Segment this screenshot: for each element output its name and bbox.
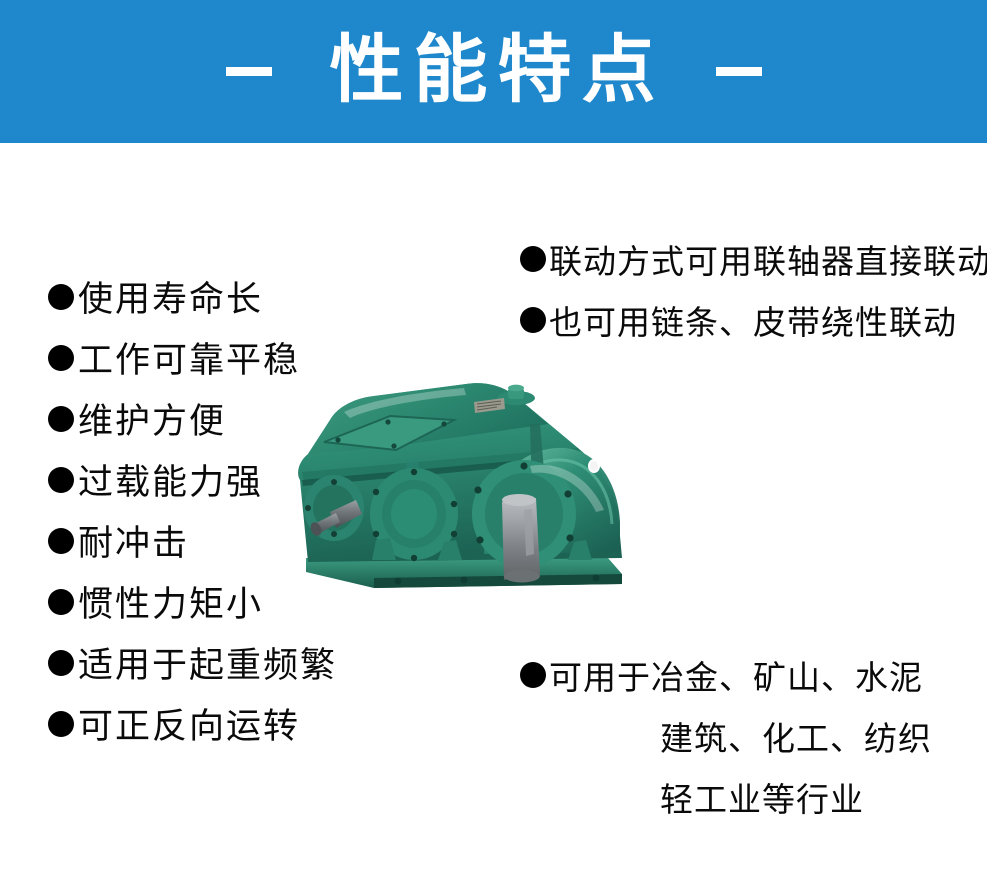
feature-label: 过载能力强	[78, 454, 263, 505]
banner-dash-left-icon	[226, 67, 272, 76]
bullet-icon	[48, 528, 74, 554]
feature-label: 维护方便	[78, 393, 226, 444]
list-item: 联动方式可用联轴器直接联动	[520, 228, 987, 289]
bullet-icon	[48, 345, 74, 371]
bullet-icon	[48, 650, 74, 676]
bullet-icon	[48, 711, 74, 737]
feature-label: 联动方式可用联轴器直接联动	[549, 235, 987, 283]
application-line: 建筑、化工、纺织	[520, 705, 932, 766]
bullet-icon	[48, 406, 74, 432]
page-root: 性能特点 使用寿命长 工作可靠平稳 维护方便 过载能力强 耐冲击 惯性力矩小	[0, 0, 987, 869]
feature-label: 工作可靠平稳	[78, 332, 300, 383]
list-item: 可正反向运转	[48, 693, 337, 754]
application-label: 建筑、化工、纺织	[660, 712, 932, 760]
feature-label: 惯性力矩小	[78, 576, 263, 627]
application-label: 可用于冶金、矿山、水泥	[549, 651, 923, 699]
bullet-icon	[48, 284, 74, 310]
input-shaft-assembly	[304, 475, 364, 541]
feature-label: 耐冲击	[78, 515, 189, 566]
reducer-base-plate	[306, 558, 622, 588]
application-label: 轻工业等行业	[660, 773, 864, 821]
list-item: 适用于起重频繁	[48, 632, 337, 693]
page-title: 性能特点	[322, 33, 666, 107]
banner-dash-right-icon	[716, 67, 762, 76]
bullet-icon	[520, 246, 546, 272]
lifting-lug-holes	[588, 459, 600, 473]
bullet-icon	[48, 589, 74, 615]
applications-block: 可用于冶金、矿山、水泥 建筑、化工、纺织 轻工业等行业	[520, 644, 932, 827]
feature-label: 可正反向运转	[78, 698, 300, 749]
bullet-icon	[48, 467, 74, 493]
feature-label: 适用于起重频繁	[78, 637, 337, 688]
right-feature-list: 联动方式可用联轴器直接联动 也可用链条、皮带绕性联动	[520, 228, 987, 350]
bullet-icon	[520, 662, 546, 688]
list-item: 也可用链条、皮带绕性联动	[520, 289, 987, 350]
bullet-icon	[520, 307, 546, 333]
feature-label: 使用寿命长	[78, 271, 263, 322]
feature-label: 也可用链条、皮带绕性联动	[549, 296, 957, 344]
list-item: 使用寿命长	[48, 266, 337, 327]
gear-reducer-product-image	[278, 362, 678, 624]
list-item: 可用于冶金、矿山、水泥	[520, 644, 932, 705]
application-line: 轻工业等行业	[520, 766, 932, 827]
header-banner: 性能特点	[0, 0, 987, 143]
